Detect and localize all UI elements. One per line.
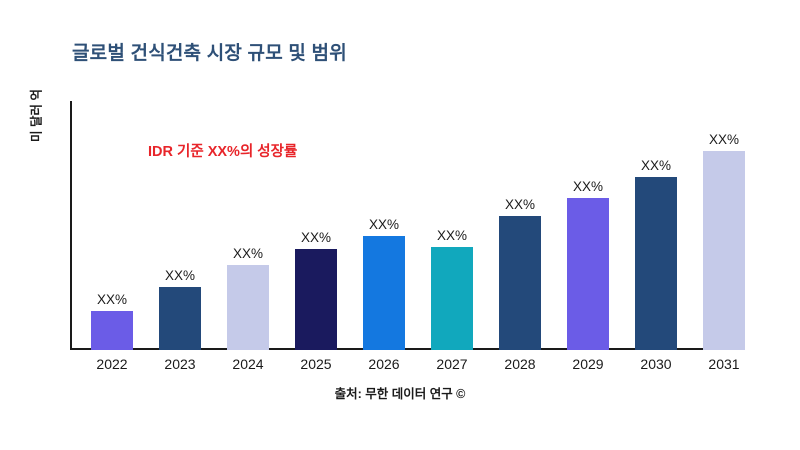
x-tick-2029: 2029 <box>554 356 622 372</box>
bar-value-label: XX% <box>505 198 535 212</box>
bar-value-label: XX% <box>709 133 739 147</box>
x-tick-2025: 2025 <box>282 356 350 372</box>
bar-rect[interactable] <box>91 311 133 350</box>
bar-group-2030[interactable]: XX% <box>622 159 690 351</box>
bar-value-label: XX% <box>301 231 331 245</box>
bar-value-label: XX% <box>437 229 467 243</box>
bar-rect[interactable] <box>635 177 677 350</box>
bar-value-label: XX% <box>97 293 127 307</box>
x-tick-2023: 2023 <box>146 356 214 372</box>
chart-container: 글로벌 건식건축 시장 규모 및 범위 미 달러 억 IDR 기준 XX%의 성… <box>0 0 800 450</box>
bar-group-2024[interactable]: XX% <box>214 247 282 351</box>
bar-value-label: XX% <box>641 159 671 173</box>
bar-group-2026[interactable]: XX% <box>350 218 418 351</box>
bar-value-label: XX% <box>573 180 603 194</box>
source-note: 출처: 무한 데이터 연구 © <box>0 383 800 402</box>
x-tick-2027: 2027 <box>418 356 486 372</box>
x-tick-2030: 2030 <box>622 356 690 372</box>
bar-rect[interactable] <box>159 287 201 350</box>
bar-rect[interactable] <box>295 249 337 350</box>
x-tick-2024: 2024 <box>214 356 282 372</box>
bar-rect[interactable] <box>431 247 473 350</box>
bar-value-label: XX% <box>233 247 263 261</box>
bar-group-2023[interactable]: XX% <box>146 269 214 351</box>
x-tick-2028: 2028 <box>486 356 554 372</box>
bar-group-2025[interactable]: XX% <box>282 231 350 351</box>
bar-rect[interactable] <box>567 198 609 350</box>
bar-group-2028[interactable]: XX% <box>486 198 554 351</box>
bar-group-2027[interactable]: XX% <box>418 229 486 351</box>
x-tick-2026: 2026 <box>350 356 418 372</box>
bar-rect[interactable] <box>703 151 745 350</box>
bar-group-2029[interactable]: XX% <box>554 180 622 351</box>
bar-value-label: XX% <box>369 218 399 232</box>
bar-rect[interactable] <box>227 265 269 350</box>
bar-value-label: XX% <box>165 269 195 283</box>
bar-rect[interactable] <box>363 236 405 350</box>
bar-group-2022[interactable]: XX% <box>78 293 146 351</box>
bar-group-2031[interactable]: XX% <box>690 133 758 351</box>
bar-rect[interactable] <box>499 216 541 350</box>
x-tick-2031: 2031 <box>690 356 758 372</box>
x-tick-2022: 2022 <box>78 356 146 372</box>
